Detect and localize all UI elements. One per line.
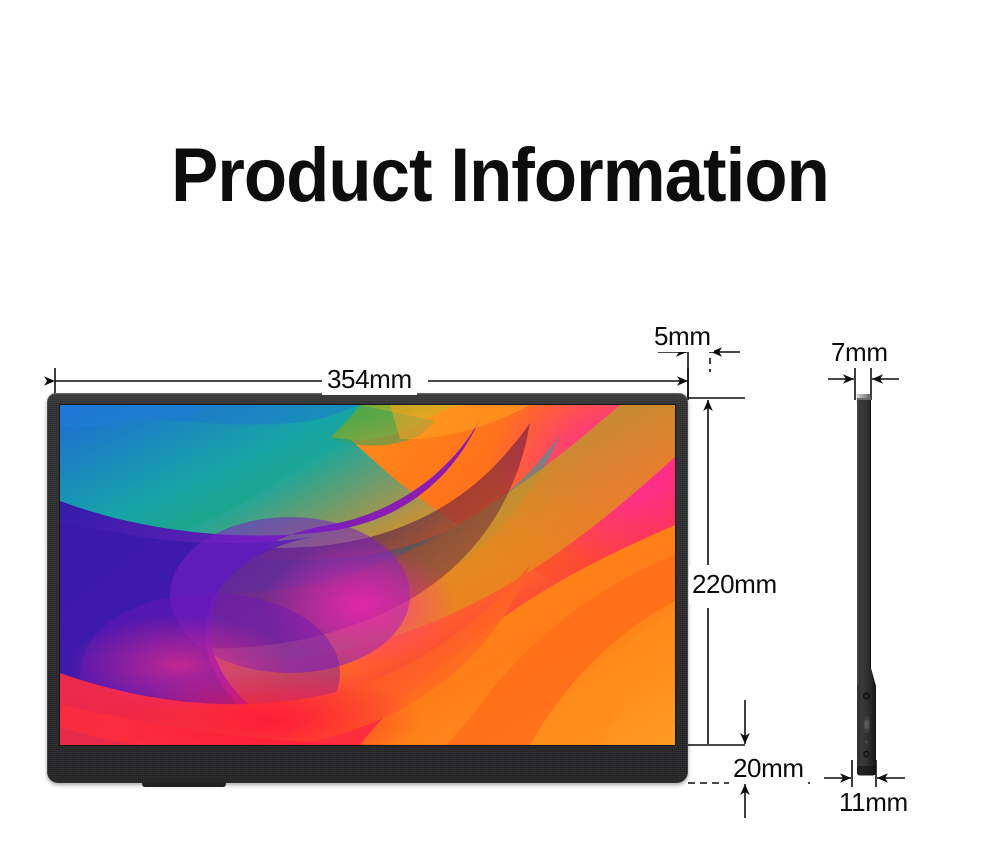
wallpaper-abstract-waves [60,405,675,745]
dimension-label-thickness-top: 7mm [828,337,891,368]
dimension-label-bezel-right: 5mm [651,321,714,352]
dimension-label-chin-height: 20mm [729,753,808,784]
dimension-label-thickness-base: 11mm [836,787,911,818]
side-profile-shape [836,394,884,776]
monitor-foot [142,780,226,787]
status-led-icon [865,741,868,744]
monitor-side-view [836,394,884,776]
monitor-front-view [47,393,688,783]
monitor-screen [60,405,675,745]
dimension-label-width: 354mm [322,364,417,395]
dimension-label-height: 220mm [689,565,780,604]
product-diagram: 354mm 5mm 220mm 20mm 7mm 11mm [0,0,1000,863]
